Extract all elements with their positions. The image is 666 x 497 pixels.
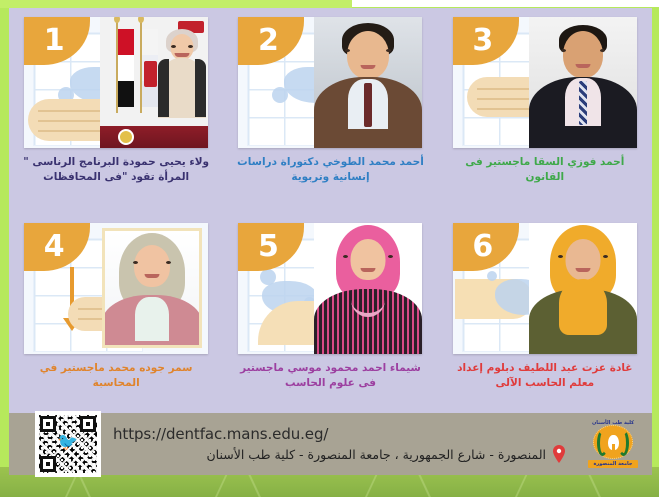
qr-code-icon[interactable]: 🐦: [35, 411, 101, 477]
graduate-cell-4[interactable]: 4 سمر جوده محمد ماجستير في المحاسبة: [9, 214, 223, 420]
graduate-cell-3[interactable]: 3 أحمد فوزي السقا ماجستير فى القانون: [438, 8, 652, 214]
photo-card-5: 5: [238, 223, 422, 354]
graduate-photo-5: [314, 223, 422, 354]
top-white-gutter: [352, 0, 666, 7]
graduate-cell-5[interactable]: 5 شيماء احمد محمود موسي ماجستير فى علوم …: [223, 214, 437, 420]
photo-card-1: 1: [24, 17, 208, 148]
graduate-caption-3: أحمد فوزي السقا ماجستير فى القانون: [451, 155, 639, 185]
address-row: المنصورة - شارع الجمهورية ، جامعة المنصو…: [113, 445, 566, 463]
graduate-photo-4: [102, 228, 202, 348]
graduate-caption-5: شيماء احمد محمود موسي ماجستير فى علوم ال…: [236, 361, 424, 391]
top-left-green-band: [0, 0, 352, 8]
slide-root: 1 ولاء يحيى حمودة البرنامج الرناسى " الم…: [0, 0, 666, 497]
graduate-photo-6: [529, 223, 637, 354]
footer-text-block: https://dentfac.mans.edu.eg/ المنصورة - …: [113, 413, 566, 475]
footer-bar: 🐦 https://dentfac.mans.edu.eg/ المنصورة …: [9, 413, 652, 475]
graduate-caption-4: سمر جوده محمد ماجستير في المحاسبة: [22, 361, 210, 391]
graduate-caption-1: ولاء يحيى حمودة البرنامج الرناسى " المرأ…: [22, 155, 210, 185]
photo-card-3: 3: [453, 17, 637, 148]
bird-glyph-icon: 🐦: [57, 434, 78, 451]
logo-bottom-text: جامعة المنصورة: [588, 460, 637, 468]
graduate-caption-2: أحمد محمد الطوخي دكتوراة دراسات إنسانية …: [236, 155, 424, 185]
graduate-photo-2: [314, 17, 422, 148]
website-url[interactable]: https://dentfac.mans.edu.eg/: [113, 425, 566, 443]
photo-card-2: 2: [238, 17, 422, 148]
graduates-grid: 1 ولاء يحيى حمودة البرنامج الرناسى " الم…: [9, 8, 652, 420]
graduate-photo-3: [529, 17, 637, 148]
tooth-wreath-emblem-icon: [593, 425, 633, 459]
photo-card-6: 6: [453, 223, 637, 354]
right-white-gutter: [659, 0, 666, 497]
graduate-photo-1: [100, 17, 208, 148]
location-pin-icon: [552, 445, 566, 463]
university-logo: كلية طب الأسنان جامعة المنصورة: [584, 415, 642, 473]
graduate-caption-6: غادة عزت عبد اللطيف دبلوم إعداد معلم الح…: [451, 361, 639, 391]
graduate-cell-1[interactable]: 1 ولاء يحيى حمودة البرنامج الرناسى " الم…: [9, 8, 223, 214]
photo-card-4: 4: [24, 223, 208, 354]
graduate-cell-6[interactable]: 6 غادة عزت عبد اللطيف دبلوم إعداد معلم ا…: [438, 214, 652, 420]
address-text: المنصورة - شارع الجمهورية ، جامعة المنصو…: [207, 447, 547, 462]
graduate-cell-2[interactable]: 2 أحمد محمد الطوخي دكتوراة دراسات إنساني…: [223, 8, 437, 214]
